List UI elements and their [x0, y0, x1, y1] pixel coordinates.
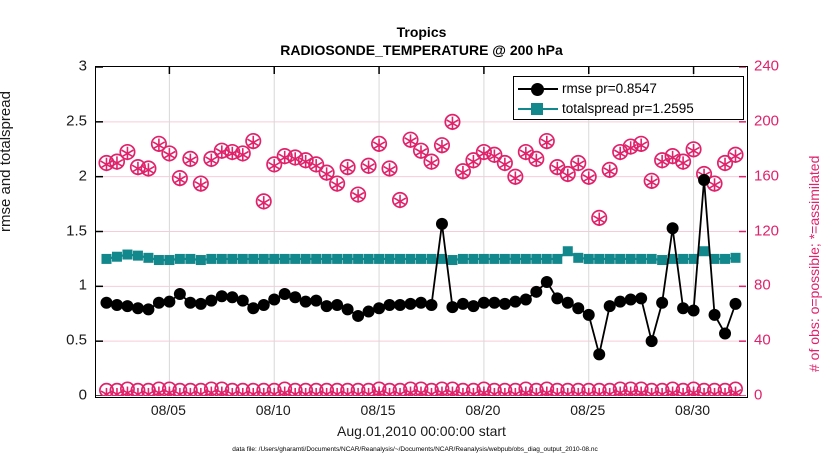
rmse-series [100, 174, 741, 360]
data-file-note: data file: /Users/gharamti/Documents/NCA… [0, 446, 830, 453]
y-tick-left-1_5: 1.5 [37, 222, 87, 239]
x-tick-08-20: 08/20 [448, 402, 518, 418]
y-tick-left-2: 2 [37, 167, 87, 184]
x-tick-08-10: 08/10 [238, 402, 308, 418]
y-tick-right-240: 240 [754, 58, 814, 75]
legend-marker-square-icon [514, 99, 562, 119]
legend-label-rmse: rmse pr=0.8547 [562, 81, 657, 96]
figure-panel: Tropics RADIOSONDE_TEMPERATURE @ 200 hPa… [0, 0, 830, 470]
legend-item-rmse[interactable]: rmse pr=0.8547 [514, 78, 657, 99]
y-tick-left-1: 1 [37, 277, 87, 294]
y-tick-right-40: 40 [754, 332, 814, 349]
y-tick-right-120: 120 [754, 222, 814, 239]
y-tick-left-3: 3 [37, 58, 87, 75]
y-tick-right-160: 160 [754, 167, 814, 184]
y-tick-left-0: 0 [37, 387, 87, 404]
x-tick-08-25: 08/25 [553, 402, 623, 418]
x-tick-08-30: 08/30 [658, 402, 728, 418]
chart-title: Tropics RADIOSONDE_TEMPERATURE @ 200 hPa [95, 24, 748, 59]
y-tick-right-0: 0 [754, 387, 814, 404]
y-tick-right-80: 80 [754, 277, 814, 294]
y-axis-left-label: rmse and totalspread [0, 91, 14, 232]
legend-marker-circle-icon [514, 79, 562, 99]
y-tick-right-200: 200 [754, 112, 814, 129]
x-axis-label: Aug.01,2010 00:00:00 start [95, 423, 748, 439]
y-tick-left-0_5: 0.5 [37, 332, 87, 349]
legend[interactable]: rmse pr=0.8547 totalspread pr=1.2595 [513, 76, 744, 120]
totalspread-series [101, 246, 740, 265]
legend-label-totalspread: totalspread pr=1.2595 [562, 101, 694, 116]
x-tick-08-15: 08/15 [343, 402, 413, 418]
title-variable: RADIOSONDE_TEMPERATURE @ 200 hPa [95, 41, 748, 59]
title-region: Tropics [95, 24, 748, 41]
y-tick-left-2_5: 2.5 [37, 112, 87, 129]
x-tick-08-05: 08/05 [133, 402, 203, 418]
legend-item-totalspread[interactable]: totalspread pr=1.2595 [514, 98, 694, 119]
